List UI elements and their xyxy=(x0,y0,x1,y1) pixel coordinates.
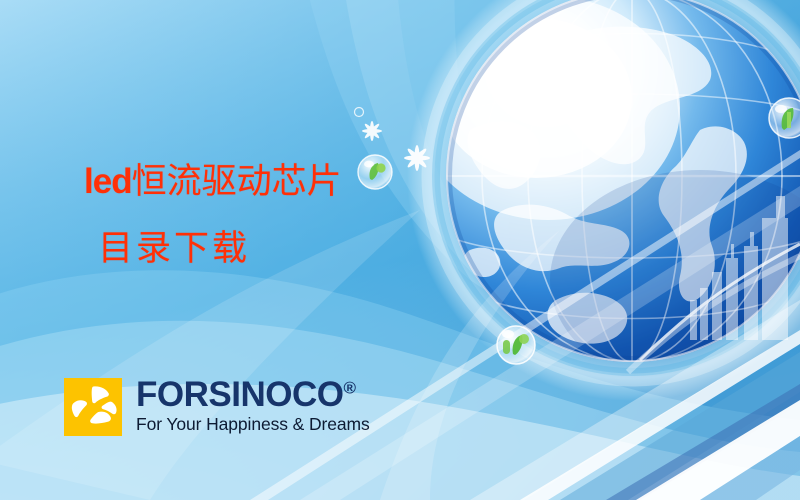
headline-latin: led xyxy=(84,162,132,201)
bubble-bottom-center xyxy=(497,326,535,364)
brand-name: FORSINOCO® xyxy=(136,378,370,412)
registered-trademark-icon: ® xyxy=(343,378,355,397)
sparkle-lower xyxy=(404,145,430,171)
sparkle-upper xyxy=(362,121,382,141)
headline-cjk: 恒流驱动芯片 xyxy=(132,162,342,202)
logo-mark-icon xyxy=(64,378,122,436)
brand-tagline: For Your Happiness & Dreams xyxy=(136,414,370,435)
headline-text: led恒流驱动芯片 目录下载 xyxy=(84,160,342,272)
flower-petals-icon xyxy=(64,378,122,436)
slide-canvas: led恒流驱动芯片 目录下载 FORSINOCO® For Your Happi… xyxy=(0,0,800,500)
logo-wordmark: FORSINOCO® For Your Happiness & Dreams xyxy=(136,378,370,435)
headline-line-1: led恒流驱动芯片 xyxy=(84,160,342,205)
headline-line-2: 目录下载 xyxy=(84,227,342,272)
bubble-top-center xyxy=(358,155,392,189)
company-logo: FORSINOCO® For Your Happiness & Dreams xyxy=(64,378,370,436)
brand-name-text: FORSINOCO xyxy=(136,375,343,414)
